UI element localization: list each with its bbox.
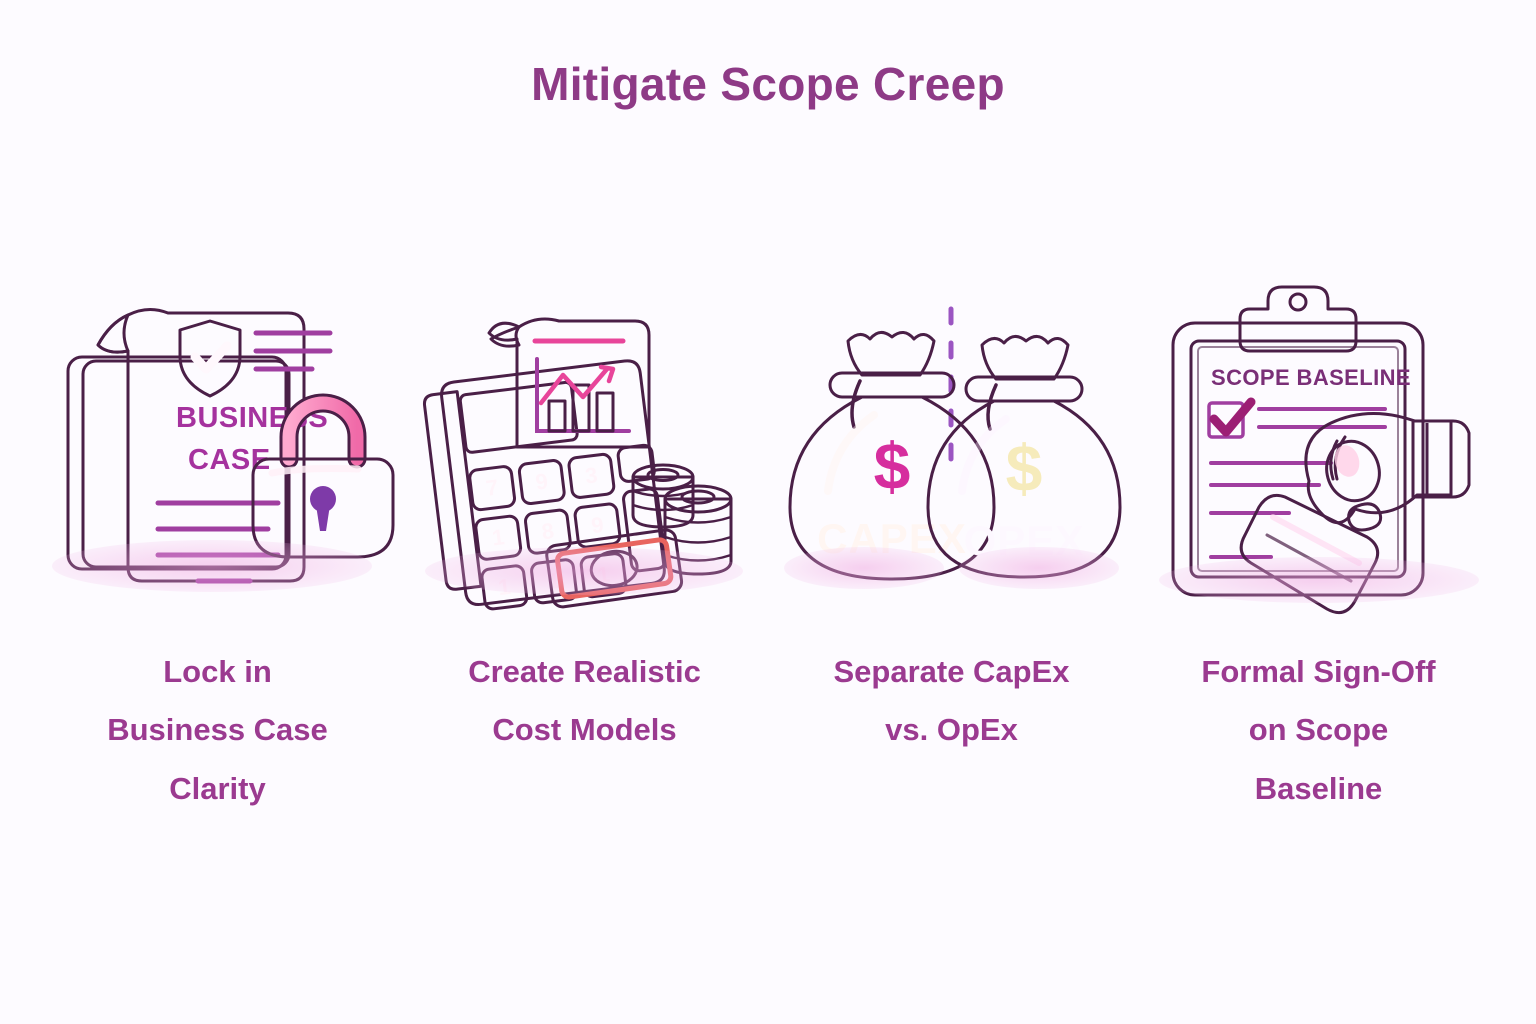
two-money-bags-capex-opex-icon: $ CAPEX $ OPEX xyxy=(774,285,1129,615)
clipboard-board xyxy=(1173,323,1423,595)
calculator-artwork: 793 189 111 xyxy=(407,285,762,615)
clipboard-artwork: SCOPE BASELINE xyxy=(1141,285,1496,615)
bag-label-opex: OPEX xyxy=(964,517,1085,564)
dollar-sign-capex: $ xyxy=(874,429,911,503)
coin-stack-back xyxy=(633,465,693,527)
svg-text:1: 1 xyxy=(497,574,512,600)
caption-create-realistic-cost-models: Create Realistic Cost Models xyxy=(468,643,701,760)
money-bags-artwork: $ CAPEX $ OPEX xyxy=(774,285,1129,615)
document-header-rules xyxy=(256,333,330,369)
svg-text:3: 3 xyxy=(584,462,599,488)
column-formal-sign-off-on-scope-baseline: SCOPE BASELINE xyxy=(1141,285,1496,818)
svg-text:8: 8 xyxy=(540,518,555,544)
page-title: Mitigate Scope Creep xyxy=(0,58,1536,111)
column-separate-capex-vs-opex: $ CAPEX $ OPEX Separate CapEx vs. OpEx xyxy=(774,285,1129,760)
chart-receipt xyxy=(489,319,649,447)
clipboard-title: SCOPE BASELINE xyxy=(1211,365,1411,390)
dollar-sign-opex: $ xyxy=(1006,431,1043,505)
caption-separate-capex-vs-opex: Separate CapEx vs. OpEx xyxy=(833,643,1069,760)
svg-text:1: 1 xyxy=(491,524,506,550)
checkbox-checked xyxy=(1209,402,1251,437)
coin-stacks xyxy=(633,465,731,574)
clipboard-rules xyxy=(1211,409,1385,557)
svg-text:7: 7 xyxy=(484,474,499,500)
caption-formal-sign-off-on-scope-baseline: Formal Sign-Off on Scope Baseline xyxy=(1201,643,1435,818)
caption-lock-in-business-case-clarity: Lock in Business Case Clarity xyxy=(107,643,328,818)
business-case-artwork: BUSINESS CASE xyxy=(40,285,395,615)
document-title-line-2: CASE xyxy=(188,444,271,476)
calculator-with-chart-receipt-coins-icon: 793 189 111 xyxy=(407,285,762,615)
column-create-realistic-cost-models: 793 189 111 xyxy=(407,285,762,760)
column-lock-in-business-case-clarity: BUSINESS CASE xyxy=(40,285,395,818)
coin-stack-front xyxy=(665,486,731,574)
svg-text:9: 9 xyxy=(590,512,605,538)
icon-caption-columns: BUSINESS CASE xyxy=(0,285,1536,818)
svg-text:9: 9 xyxy=(534,468,549,494)
clipboard-scope-baseline-with-stamp-icon: SCOPE BASELINE xyxy=(1141,285,1496,615)
business-case-document-with-padlock-icon: BUSINESS CASE xyxy=(40,285,395,615)
